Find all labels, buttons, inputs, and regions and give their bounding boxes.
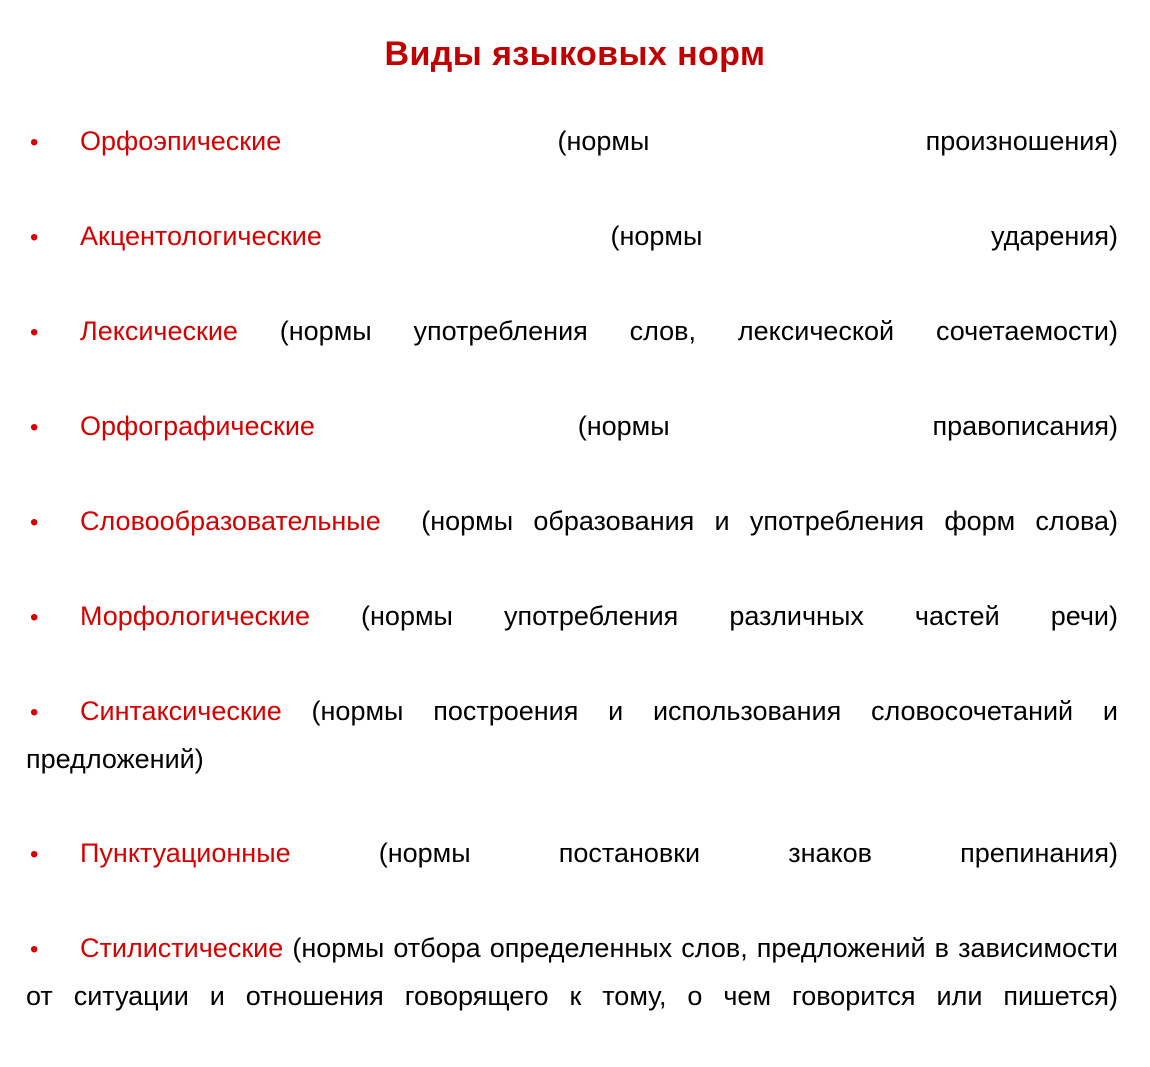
list-item: Стилистические (нормы отбора определенны… [26,925,1118,1067]
norm-definition: (нормы употребления слов, лексической со… [280,316,1118,346]
bullet-dot-icon [26,688,80,736]
norm-term: Лексические [80,316,280,346]
norm-term: Словообразовательные [80,506,421,536]
norm-types-list: Орфоэпические (нормы произношения) Акцен… [26,118,1118,1067]
list-item: Словообразовательные (нормы образования … [26,498,1118,593]
norm-term: Морфологические [80,601,361,631]
list-item: Орфографические (нормы правописания) [26,403,1118,498]
list-item: Лексические (нормы употребления слов, ле… [26,308,1118,403]
norm-definition: (нормы образования и употребления форм с… [421,506,1118,536]
bullet-dot-icon [26,830,80,878]
bullet-dot-icon [26,498,80,546]
norm-term: Стилистические [80,933,292,963]
norm-term: Акцентологические [80,221,610,251]
list-item: Синтаксические (нормы построения и испол… [26,688,1118,830]
bullet-dot-icon [26,403,80,451]
norm-term: Орфоэпические [80,126,558,156]
norm-definition: (нормы ударения) [610,221,1118,251]
bullet-dot-icon [26,213,80,261]
bullet-dot-icon [26,118,80,166]
norm-term: Орфографические [80,411,578,441]
list-item: Пунктуационные (нормы постановки знаков … [26,830,1118,925]
slide-canvas: Виды языковых норм Орфоэпические (нормы … [0,0,1150,864]
list-item: Орфоэпические (нормы произношения) [26,118,1118,213]
norm-definition: (нормы употребления различных частей реч… [361,601,1118,631]
list-item: Морфологические (нормы употребления разл… [26,593,1118,688]
bullet-dot-icon [26,308,80,356]
page-title: Виды языковых норм [0,36,1150,73]
norm-definition: (нормы правописания) [578,411,1118,441]
list-item: Акцентологические (нормы ударения) [26,213,1118,308]
norm-definition: (нормы произношения) [558,126,1119,156]
bullet-dot-icon [26,593,80,641]
norm-term: Синтаксические [80,696,312,726]
bullet-dot-icon [26,925,80,973]
